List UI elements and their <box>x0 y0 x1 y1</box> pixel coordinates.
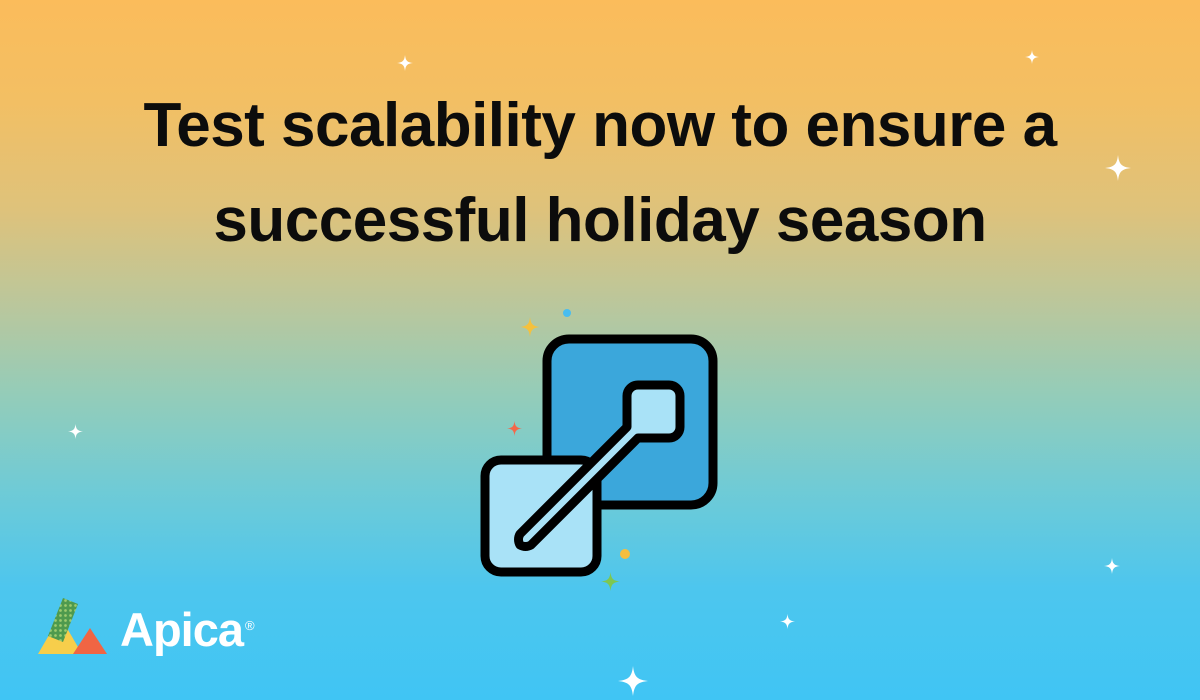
expand-icon-svg <box>470 320 730 580</box>
expand-scale-icon <box>470 320 730 580</box>
apica-wordmark: Apica <box>120 606 243 653</box>
registered-trademark-icon: ® <box>245 618 255 633</box>
sparkle-white-5-icon <box>1104 558 1120 574</box>
apica-logo[interactable]: Apica ® <box>38 596 255 658</box>
sparkle-white-2-icon <box>1025 50 1039 64</box>
headline-line-1: Test scalability now to ensure a <box>60 78 1140 173</box>
promo-banner: Test scalability now to ensure a success… <box>0 0 1200 700</box>
sparkle-white-7-icon <box>618 666 648 696</box>
page-title: Test scalability now to ensure a success… <box>0 78 1200 268</box>
sparkle-white-1-icon <box>397 55 413 71</box>
sparkle-white-4-icon <box>68 424 83 439</box>
headline-line-2: successful holiday season <box>60 173 1140 268</box>
apica-logo-mark <box>38 598 108 656</box>
dot-blue-icon <box>563 309 571 317</box>
logo-right-triangle <box>73 628 107 654</box>
apica-mark-svg <box>38 598 108 656</box>
sparkle-white-6-icon <box>780 614 795 629</box>
